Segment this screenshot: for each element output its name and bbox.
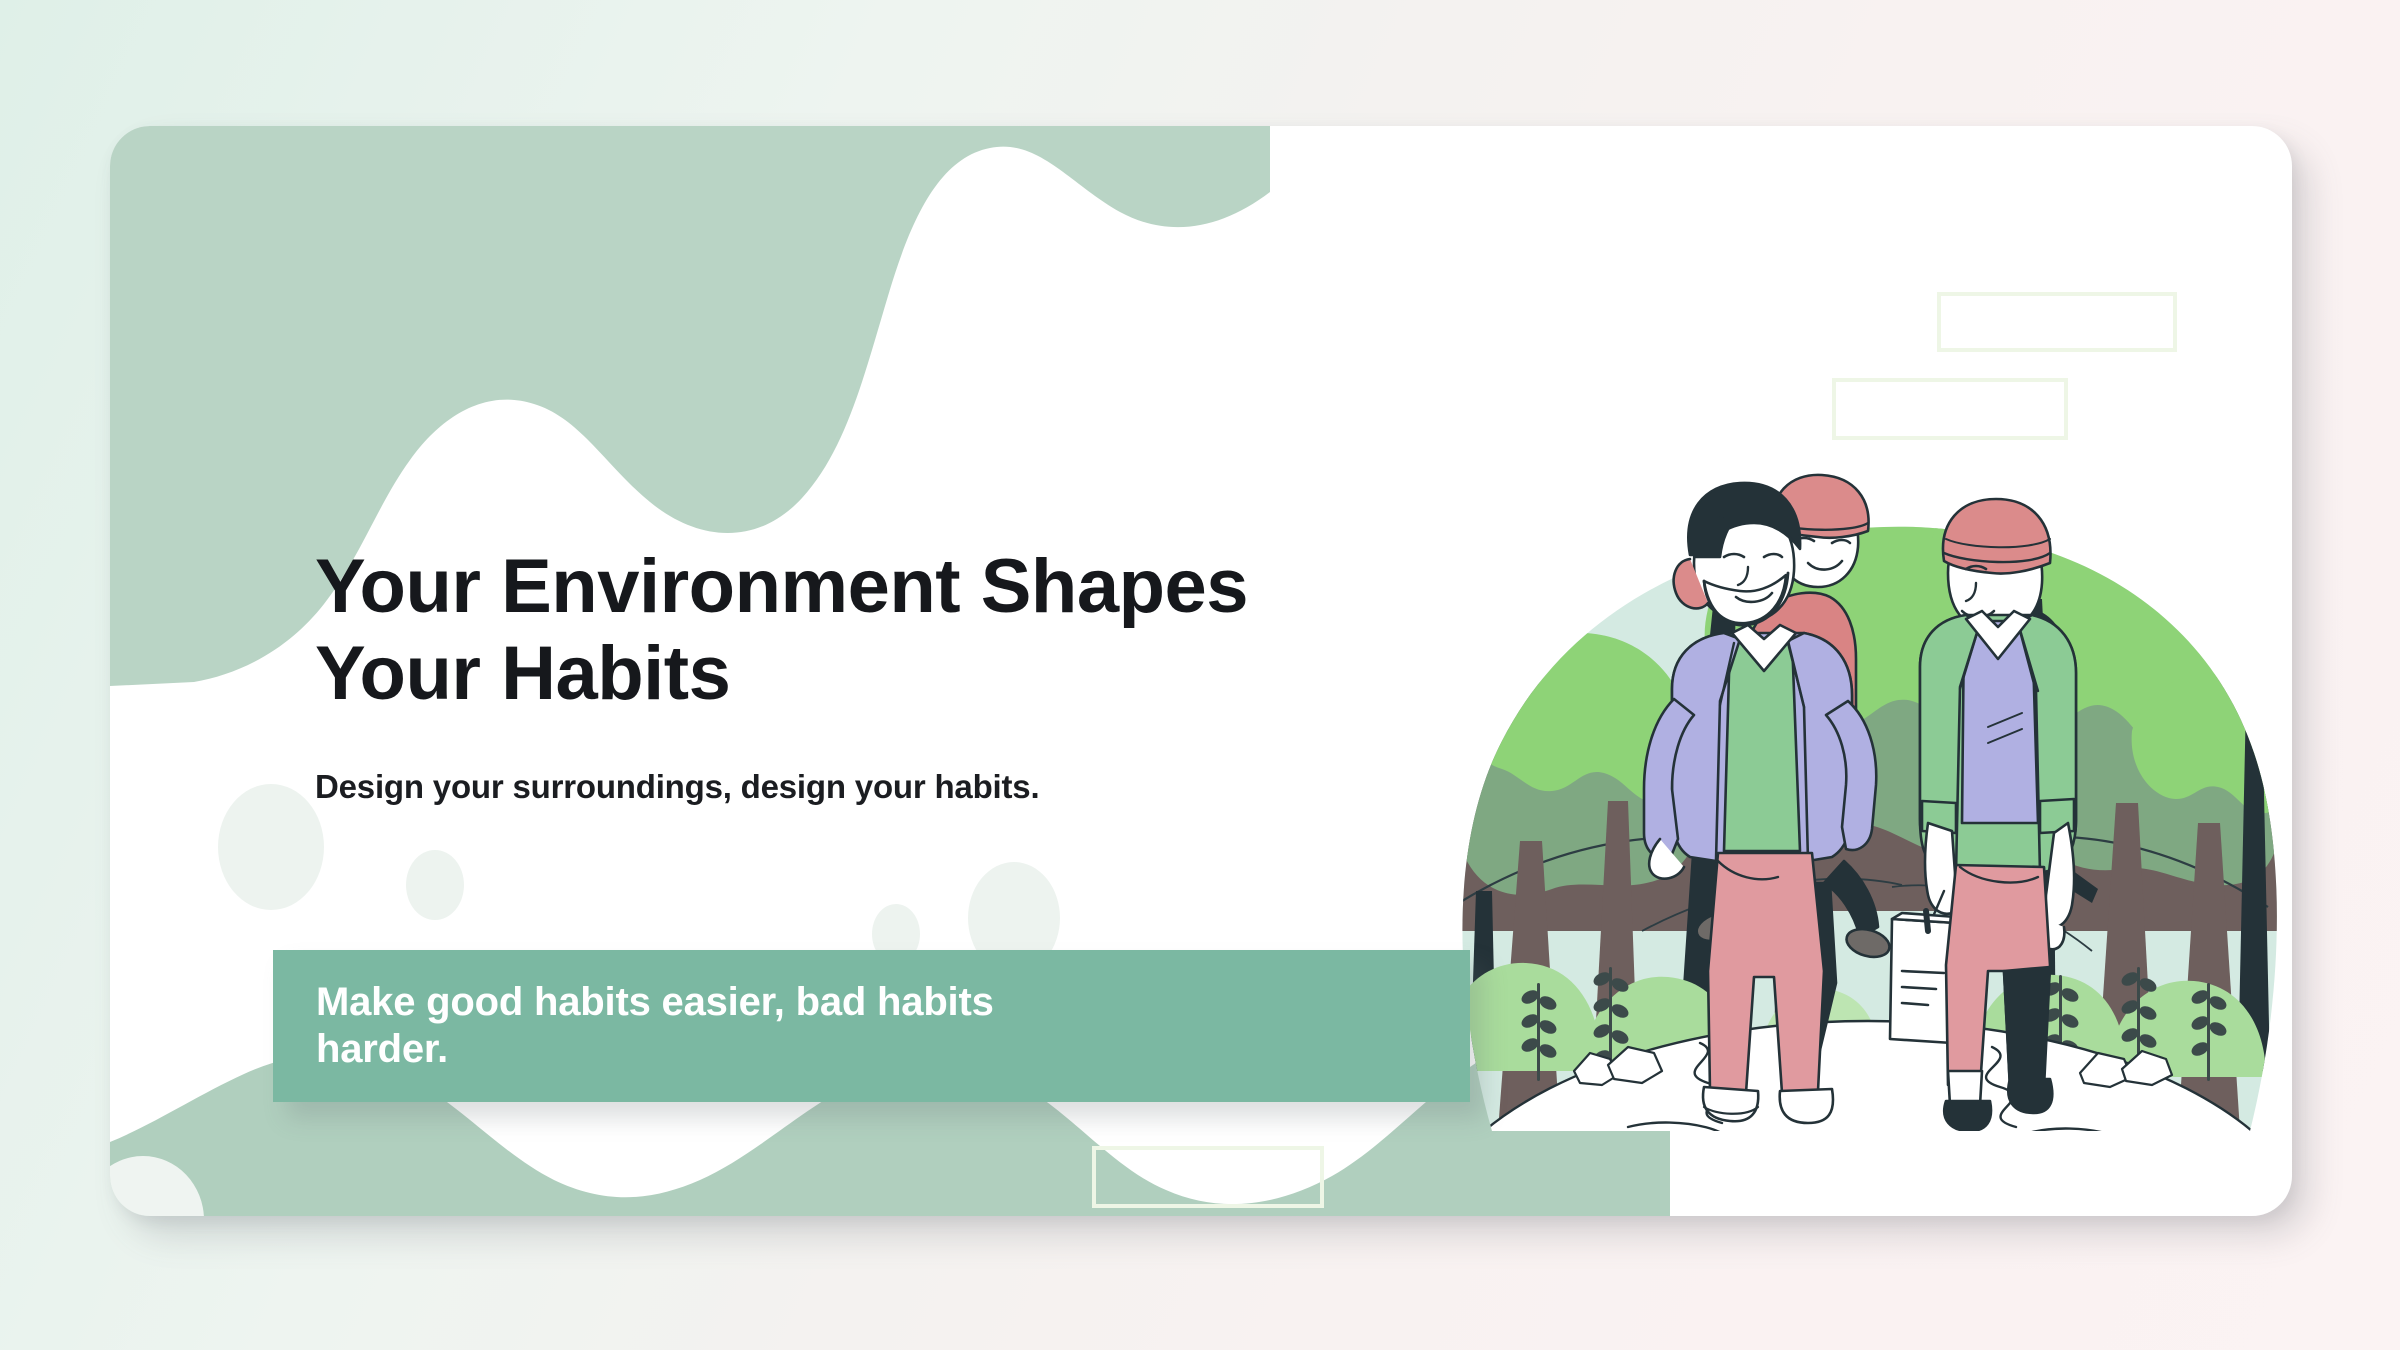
highlight-banner-text: Make good habits easier, bad habits hard… xyxy=(273,979,1018,1073)
hero-card: Your Environment Shapes Your Habits Desi… xyxy=(110,126,2292,1216)
page-subtitle: Design your surroundings, design your ha… xyxy=(315,768,1039,806)
decor-circle-1 xyxy=(218,784,324,910)
decor-rect-1 xyxy=(1937,292,2177,352)
page-title: Your Environment Shapes Your Habits xyxy=(315,544,1435,717)
highlight-banner: Make good habits easier, bad habits hard… xyxy=(273,950,1470,1102)
decor-circle-2 xyxy=(406,850,464,920)
family-forest-illustration xyxy=(1432,371,2292,1131)
page-stage: Your Environment Shapes Your Habits Desi… xyxy=(0,0,2400,1350)
decor-rect-3 xyxy=(1092,1146,1324,1208)
